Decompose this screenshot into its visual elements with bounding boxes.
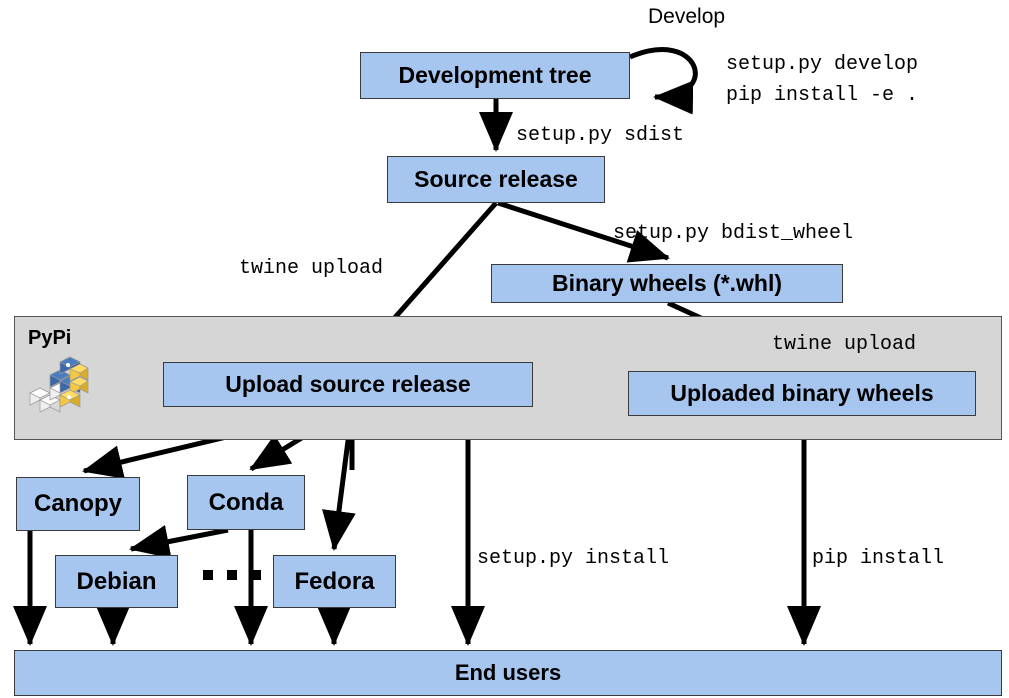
node-upload-source-release[interactable]: Upload source release	[163, 362, 533, 407]
node-fedora-label: Fedora	[294, 568, 374, 596]
node-conda-label: Conda	[209, 489, 284, 517]
node-debian[interactable]: Debian	[55, 555, 178, 608]
label-pip-install: pip install	[812, 546, 944, 571]
ellipsis-dot	[227, 570, 237, 580]
label-setup-py-develop: setup.py develop	[726, 52, 918, 77]
node-uploaded-binary-wheels-label: Uploaded binary wheels	[670, 380, 933, 407]
label-pip-install-editable: pip install -e .	[726, 83, 918, 108]
node-binary-wheels-label: Binary wheels (*.whl)	[552, 270, 782, 297]
node-source-release[interactable]: Source release	[387, 156, 605, 203]
node-debian-label: Debian	[76, 568, 156, 596]
ellipsis-dot	[251, 570, 261, 580]
node-end-users[interactable]: End users	[14, 650, 1002, 696]
label-setup-py-install: setup.py install	[477, 546, 669, 571]
label-twine-upload-source: twine upload	[239, 256, 383, 281]
node-uploaded-binary-wheels[interactable]: Uploaded binary wheels	[628, 371, 976, 416]
label-twine-upload-wheels: twine upload	[772, 332, 916, 357]
node-end-users-label: End users	[455, 660, 561, 686]
ellipsis-dot	[203, 570, 213, 580]
pypi-group-label: PyPi	[28, 327, 71, 350]
node-fedora[interactable]: Fedora	[273, 555, 396, 608]
label-setup-py-sdist: setup.py sdist	[516, 123, 684, 148]
diagram-canvas: PyPi	[0, 0, 1009, 698]
node-source-release-label: Source release	[414, 166, 578, 193]
node-development-tree[interactable]: Development tree	[360, 52, 630, 99]
pypi-logo-icon	[28, 355, 90, 418]
ellipsis-more-distros	[203, 570, 261, 580]
node-upload-source-release-label: Upload source release	[225, 371, 470, 398]
label-setup-py-bdist-wheel: setup.py bdist_wheel	[613, 221, 853, 246]
label-develop: Develop	[648, 4, 725, 30]
node-binary-wheels[interactable]: Binary wheels (*.whl)	[491, 264, 843, 303]
node-canopy-label: Canopy	[34, 490, 122, 518]
node-canopy[interactable]: Canopy	[16, 477, 140, 531]
node-development-tree-label: Development tree	[398, 62, 591, 89]
node-conda[interactable]: Conda	[187, 475, 305, 530]
edge-conda-to-debian	[131, 530, 228, 549]
edge-develop-self-loop	[630, 50, 695, 97]
